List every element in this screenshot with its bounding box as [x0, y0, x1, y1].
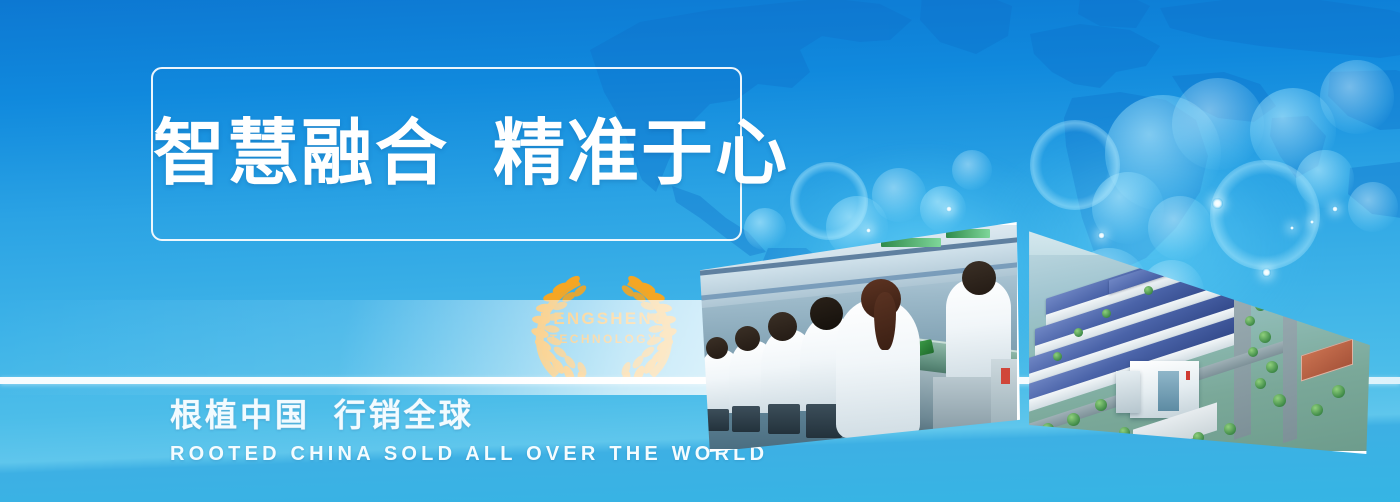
- panel-frame-right: [1022, 212, 1377, 454]
- tagline-block: 根植中国 行销全球 ROOTED CHINA SOLD ALL OVER THE…: [170, 396, 768, 466]
- panel-frame-left: [690, 222, 1020, 452]
- tagline-chinese: 根植中国 行销全球: [170, 396, 768, 434]
- promotional-banner: 智慧融合 精准于心: [0, 0, 1400, 502]
- laurel-wreath-icon: [528, 272, 680, 384]
- photo-factory-assembly-line[interactable]: [690, 222, 1020, 452]
- photo-factory-campus-aerial[interactable]: [1022, 212, 1377, 454]
- panel-inner-left: [690, 222, 1020, 452]
- company-logo-badge: PENGSHENG TECHNOLOGY: [528, 272, 680, 384]
- campus-photo-content: [1025, 215, 1374, 451]
- page-title: 智慧融合 精准于心: [153, 118, 740, 190]
- headline-frame: 智慧融合 精准于心: [151, 67, 742, 241]
- factory-photo-content: [693, 225, 1017, 449]
- panel-inner-right: [1022, 212, 1377, 454]
- tagline-english: ROOTED CHINA SOLD ALL OVER THE WORLD: [170, 443, 768, 466]
